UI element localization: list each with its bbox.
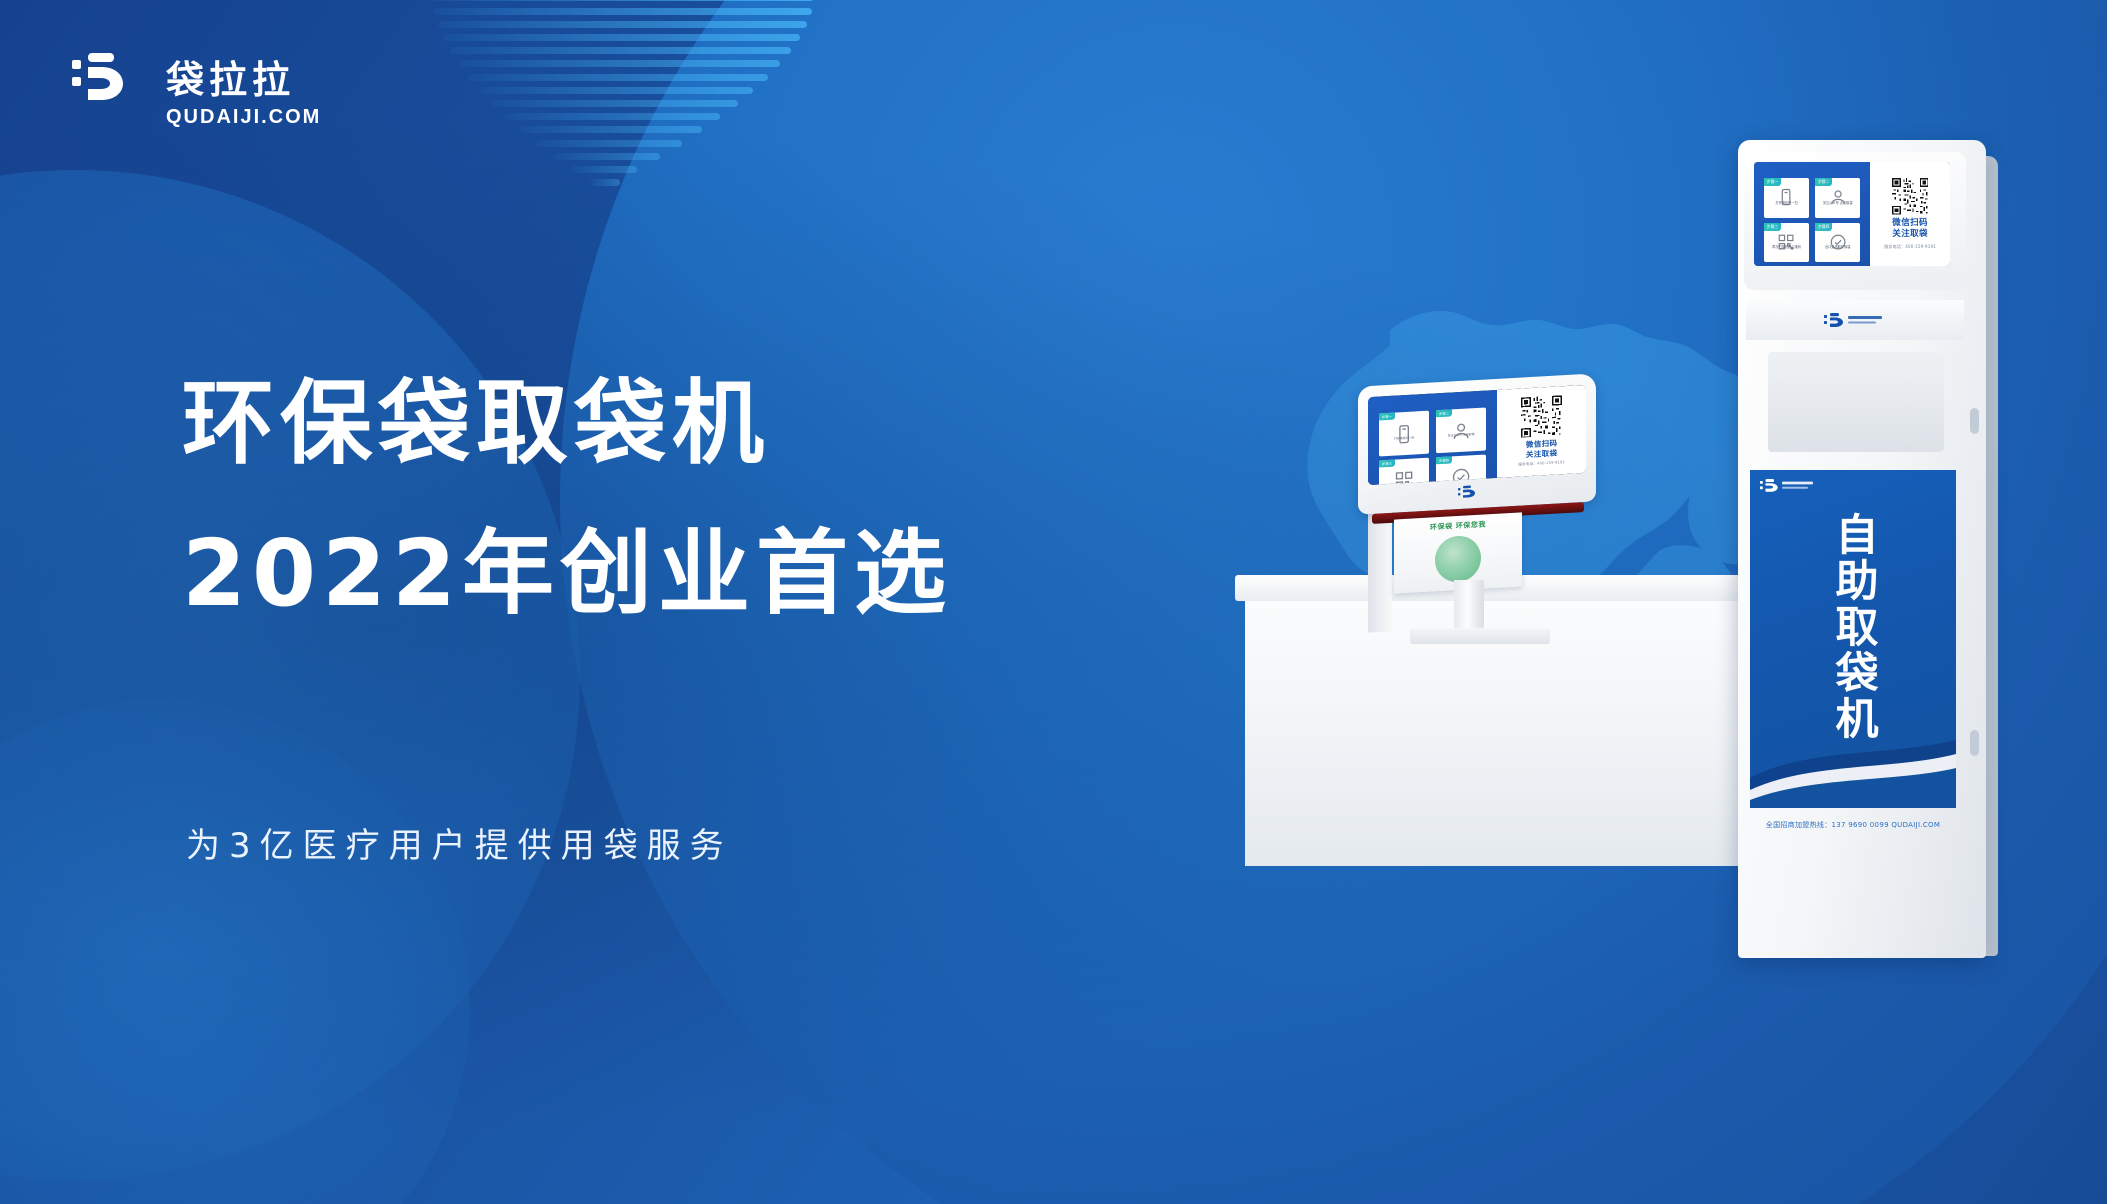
brand-logo: 袋拉拉 QUDAIJI.COM	[72, 48, 402, 129]
kiosk-cta-line-1: 微信扫码	[1892, 218, 1928, 228]
product-scene: 步骤一打开微信扫一扫步骤二关注公众号 点击取袋步骤三再次扫描机器二维码步骤四出口…	[1180, 130, 2100, 960]
kiosk-sensor-icon	[1970, 408, 1979, 434]
kiosk-steps-panel: 步骤一打开微信扫一扫步骤二关注公众号 点击取袋步骤三再次扫描机器二维码步骤四出口…	[1754, 162, 1870, 266]
floor-standing-bag-kiosk: 步骤一打开微信扫一扫步骤二关注公众号 点击取袋步骤三再次扫描机器二维码步骤四出口…	[1738, 140, 2000, 970]
screen-step-card[interactable]: 步骤一打开微信扫一扫	[1379, 411, 1430, 457]
check-circle-icon	[1451, 467, 1471, 479]
qudaiji-mark-icon	[1458, 484, 1498, 498]
desktop-neck	[1454, 580, 1484, 632]
desktop-screen[interactable]: 步骤一打开微信扫一扫步骤二关注公众号 点击取袋步骤三再次扫描机器二维码步骤四出口…	[1368, 385, 1586, 485]
earth-globe-icon	[1435, 535, 1481, 584]
phone-scan-icon	[1394, 423, 1414, 435]
kiosk-lock-icon	[1970, 730, 1979, 756]
step-tag: 步骤三	[1379, 460, 1395, 468]
step-tag: 步骤一	[1764, 178, 1781, 186]
headline-line-2: 2022年创业首选	[182, 522, 1182, 626]
subtitle: 为3亿医疗用户提供用袋服务	[186, 818, 733, 867]
kiosk-screen-cta: 微信扫码 关注取袋	[1892, 218, 1928, 240]
screen-service-tel: 服务电话：400-159-9191	[1518, 460, 1565, 468]
kiosk-brand-bar	[1746, 300, 1964, 340]
kiosk-screen-ui: 步骤一打开微信扫一扫步骤二关注公众号 点击取袋步骤三再次扫描机器二维码步骤四出口…	[1754, 162, 1950, 266]
screen-step-card[interactable]: 步骤一打开微信扫一扫	[1764, 178, 1809, 218]
screen-steps-panel: 步骤一打开微信扫一扫步骤二关注公众号 点击取袋步骤三再次扫描机器二维码步骤四出口…	[1368, 390, 1497, 485]
promo-banner: 袋拉拉 QUDAIJI.COM 环保袋取袋机 2022年创业首选 为3亿医疗用户…	[0, 0, 2107, 1204]
headline-line-1: 环保袋取袋机	[182, 372, 1182, 476]
eco-bag-text: 环保袋 环保您我	[1394, 517, 1522, 534]
qr-code-icon	[1521, 395, 1562, 438]
qudaiji-logo-icon	[72, 48, 150, 100]
phone-scan-icon	[1777, 188, 1795, 198]
kiosk-service-tel: 服务电话：400-159-9191	[1884, 244, 1936, 250]
qr-code-icon	[1777, 233, 1795, 243]
step-tag: 步骤二	[1815, 178, 1832, 186]
qudaiji-logo-icon	[1760, 478, 1816, 493]
desktop-base	[1410, 628, 1550, 644]
wechat-follow-icon	[1829, 188, 1847, 198]
screen-step-card[interactable]: 步骤四出口处领取环保袋	[1815, 223, 1860, 263]
kiosk-qr-panel: 微信扫码 关注取袋 服务电话：400-159-9191	[1870, 162, 1950, 266]
screen-step-card[interactable]: 步骤三再次扫描机器二维码	[1379, 458, 1430, 485]
qr-code-icon	[1394, 470, 1414, 482]
step-tag: 步骤四	[1815, 223, 1832, 231]
step-tag: 步骤四	[1436, 457, 1452, 465]
cta-line-2: 关注取袋	[1526, 448, 1558, 459]
screen-qr-panel: 微信扫码 关注取袋 服务电话：400-159-9191	[1497, 385, 1586, 478]
screen-cta: 微信扫码 关注取袋	[1526, 439, 1558, 460]
kiosk-footer-text: 全国招商加盟热线：137 9690 0099 QUDAIJI.COM	[1750, 812, 1956, 838]
check-circle-icon	[1829, 233, 1847, 243]
step-tag: 步骤一	[1379, 413, 1395, 421]
kiosk-dispense-chute	[1768, 352, 1944, 452]
kiosk-branding-panel: 自助取袋机	[1750, 470, 1956, 808]
screen-step-card[interactable]: 步骤二关注公众号 点击取袋	[1436, 408, 1487, 454]
headline-group: 环保袋取袋机 2022年创业首选	[182, 372, 1182, 626]
step-tag: 步骤三	[1764, 223, 1781, 231]
brand-domain: QUDAIJI.COM	[166, 106, 402, 129]
desktop-bag-dispenser: 步骤一打开微信扫一扫步骤二关注公众号 点击取袋步骤三再次扫描机器二维码步骤四出口…	[1358, 380, 1618, 590]
kiosk-screen[interactable]: 步骤一打开微信扫一扫步骤二关注公众号 点击取袋步骤三再次扫描机器二维码步骤四出口…	[1754, 162, 1950, 266]
kiosk-wave-decoration	[1750, 738, 1956, 808]
step-tag: 步骤二	[1436, 410, 1452, 418]
qudaiji-logo-icon	[1824, 312, 1886, 328]
kiosk-cta-line-2: 关注取袋	[1892, 229, 1928, 239]
brand-name-cn: 袋拉拉	[166, 60, 295, 100]
screen-step-card[interactable]: 步骤二关注公众号 点击取袋	[1815, 178, 1860, 218]
wechat-follow-icon	[1451, 420, 1471, 432]
screen-ui: 步骤一打开微信扫一扫步骤二关注公众号 点击取袋步骤三再次扫描机器二维码步骤四出口…	[1368, 385, 1586, 485]
qr-code-icon	[1892, 178, 1929, 215]
screen-step-card[interactable]: 步骤三再次扫描机器二维码	[1764, 223, 1809, 263]
